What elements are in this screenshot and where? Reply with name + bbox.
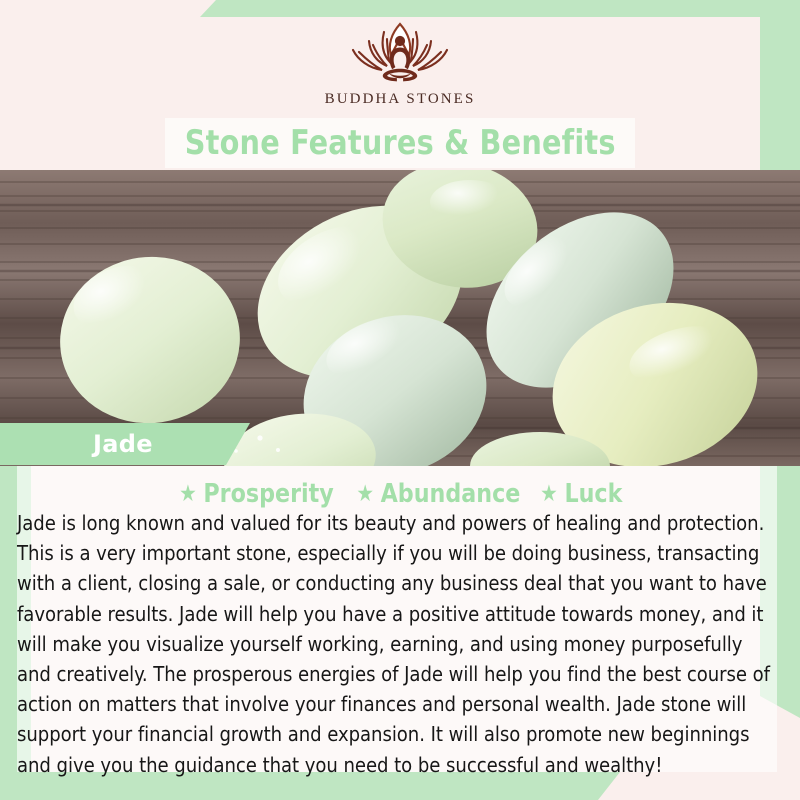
star-icon: ★ [541,483,559,506]
benefit-item-prosperity: ★ Prosperity [179,479,334,509]
accent-bar-top [200,0,800,17]
benefit-label: Luck [565,479,623,509]
hero-photo [0,170,800,466]
lotus-meditation-icon [325,18,475,90]
stone-name-label: Jade [93,430,153,458]
section-title-banner: Stone Features & Benefits [165,118,635,168]
stone-name-badge: Jade [0,423,250,465]
benefit-label: Abundance [380,479,520,509]
star-icon: ★ [179,483,197,506]
star-icon: ★ [356,483,374,506]
page-title: Stone Features & Benefits [185,123,616,163]
stone-description: Jade is long known and valued for its be… [17,508,772,780]
benefit-item-luck: ★ Luck [541,479,623,509]
brand-wordmark: BUDDHA STONES [325,91,476,108]
benefit-label: Prosperity [203,479,333,509]
wood-background [0,170,800,466]
benefit-item-abundance: ★ Abundance [356,479,520,509]
benefits-row: ★ Prosperity ★ Abundance ★ Luck [0,478,800,510]
brand-logo: BUDDHA STONES [0,18,800,118]
